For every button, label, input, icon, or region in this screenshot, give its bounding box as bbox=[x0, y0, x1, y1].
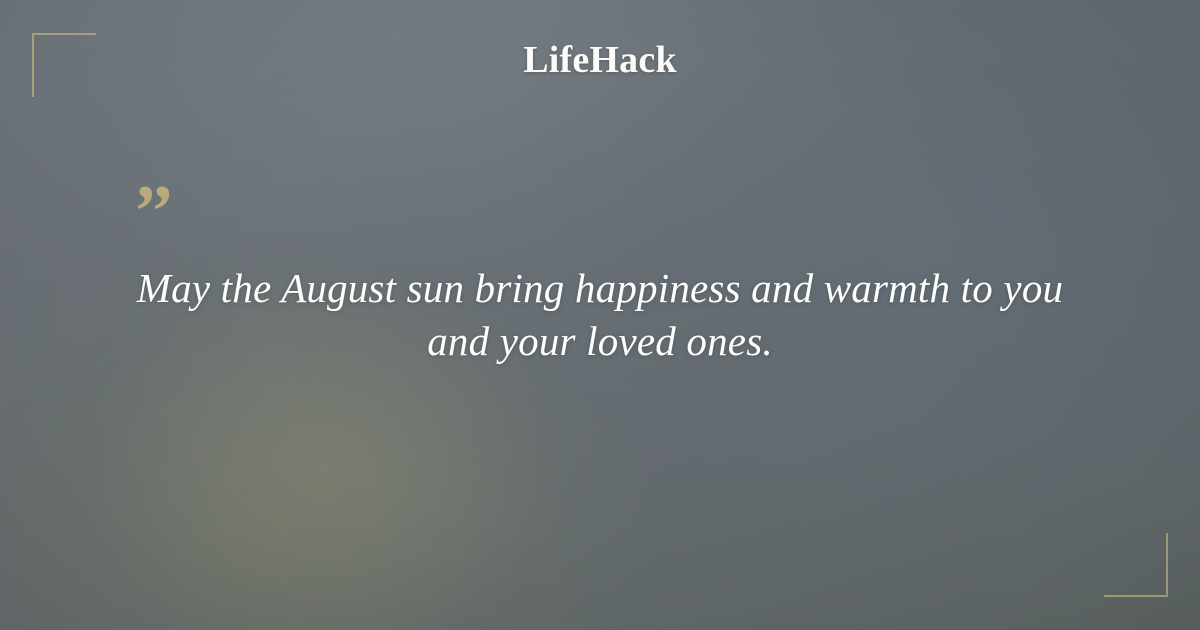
quote-text: May the August sun bring happiness and w… bbox=[120, 262, 1080, 369]
quote-card: LifeHack ’’ May the August sun bring hap… bbox=[0, 0, 1200, 630]
brand-name: LifeHack bbox=[523, 38, 677, 82]
quotation-mark-icon: ’’ bbox=[120, 190, 1080, 240]
quote-container: ’’ May the August sun bring happiness an… bbox=[120, 190, 1080, 369]
corner-bracket-bottom-right-icon bbox=[1104, 533, 1168, 597]
brand-logo: LifeHack bbox=[0, 38, 1200, 82]
